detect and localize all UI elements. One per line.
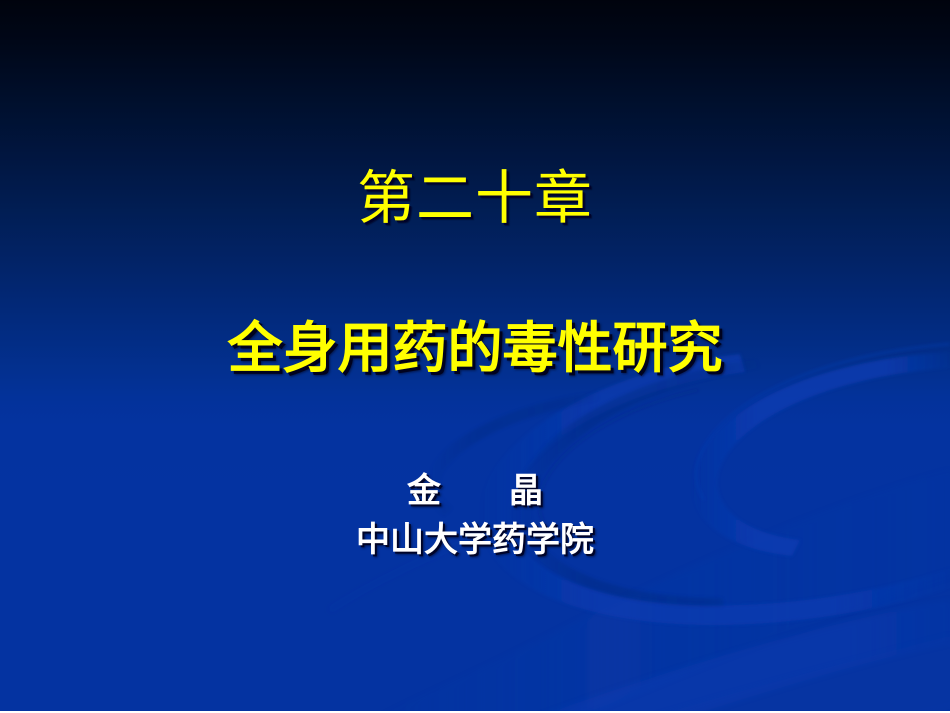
slide-text-layer: 第二十章 全身用药的毒性研究 金 晶 中山大学药学院 (0, 0, 950, 713)
presentation-slide: 第二十章 全身用药的毒性研究 金 晶 中山大学药学院 (0, 0, 950, 713)
page-subtitle: 全身用药的毒性研究 (0, 318, 950, 379)
page-title: 第二十章 (0, 168, 950, 229)
author-name: 金 晶 (0, 472, 950, 511)
author-affiliation: 中山大学药学院 (0, 521, 950, 560)
